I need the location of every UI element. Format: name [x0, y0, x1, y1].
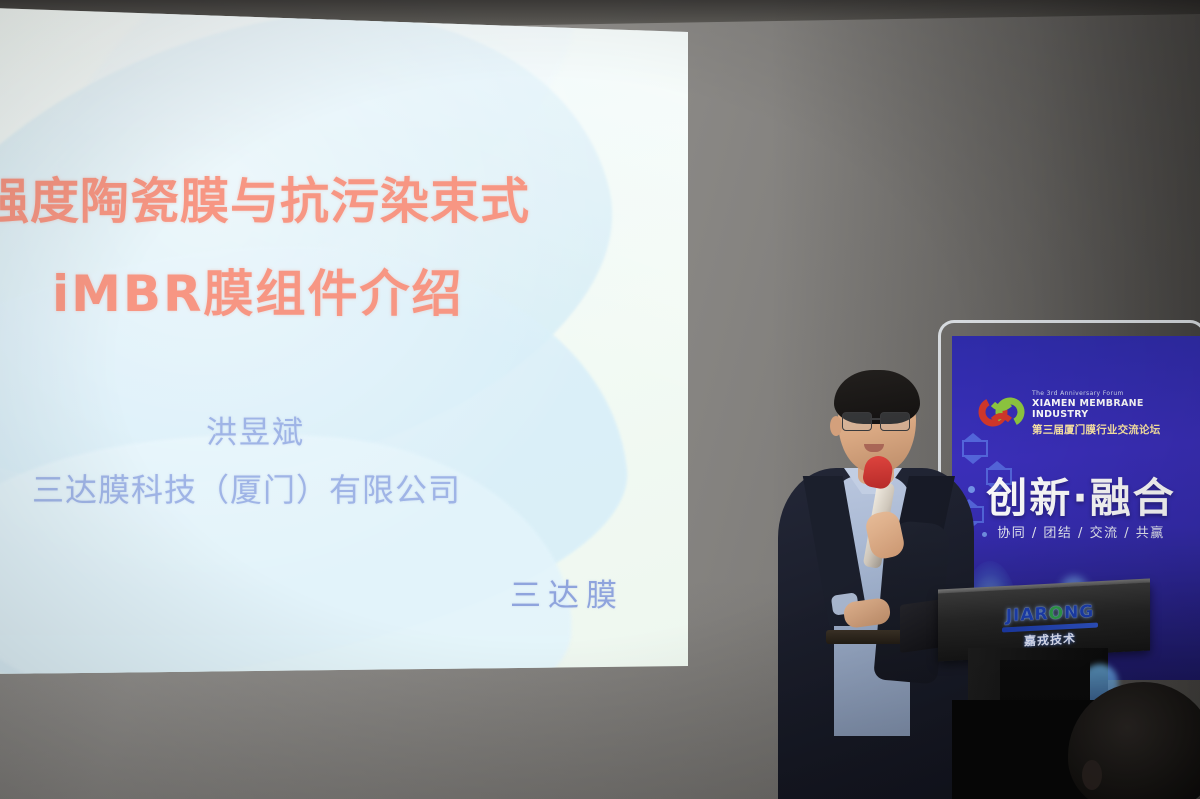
audience-ear: [1082, 760, 1102, 790]
projection-screen: 强度陶瓷膜与抗污染束式 iMBR膜组件介绍 洪昱斌 三达膜科技（厦门）有限公司 …: [0, 2, 696, 674]
slide-text-block: 强度陶瓷膜与抗污染束式 iMBR膜组件介绍 洪昱斌 三达膜科技（厦门）有限公司 …: [0, 2, 696, 674]
speaker-ear: [830, 416, 842, 436]
podium-brand-en-part2: NG: [1064, 602, 1094, 624]
podium-brand-en-part1: JIAR: [1006, 604, 1049, 626]
podium-brand-o-glyph: O: [1049, 603, 1064, 624]
glasses-lens-left: [842, 412, 872, 431]
slide-speaker-name: 洪昱斌: [206, 407, 305, 452]
eyeglasses-icon: [842, 412, 914, 429]
conference-photo: 强度陶瓷膜与抗污染束式 iMBR膜组件介绍 洪昱斌 三达膜科技（厦门）有限公司 …: [0, 0, 1200, 799]
glasses-bridge: [870, 418, 880, 420]
glasses-lens-right: [880, 412, 910, 431]
slide-affiliation: 三达膜科技（厦门）有限公司: [32, 465, 461, 511]
projected-slide: 强度陶瓷膜与抗污染束式 iMBR膜组件介绍 洪昱斌 三达膜科技（厦门）有限公司 …: [0, 2, 696, 674]
slide-title-line-2: iMBR膜组件介绍: [52, 254, 464, 326]
podium-logo: JIARONG 嘉戎技术: [1000, 601, 1100, 650]
slide-title-line-1: 强度陶瓷膜与抗污染束式: [0, 162, 530, 233]
slide-brand-mark: 三达膜: [510, 570, 624, 615]
